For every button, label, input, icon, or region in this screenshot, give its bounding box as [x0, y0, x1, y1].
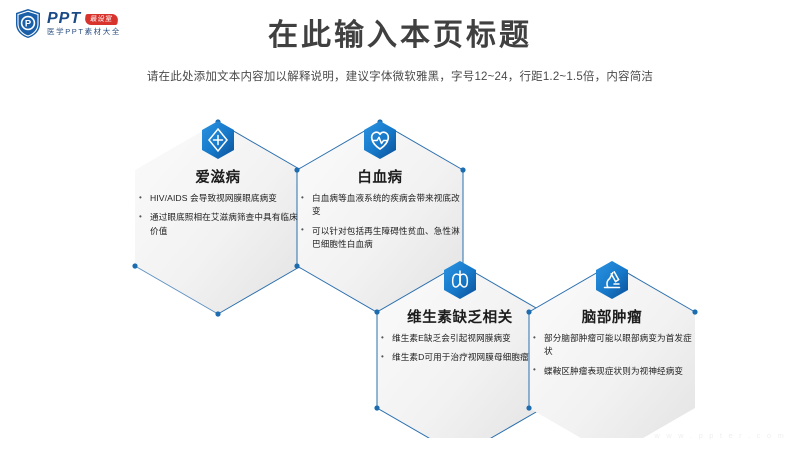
diamond-cross-icon: [200, 120, 236, 160]
list-item: 通过眼底照相在艾滋病筛查中具有临床价值: [139, 211, 299, 238]
hexagon-shapes: [0, 98, 800, 438]
card-bullets-aids: HIV/AIDS 会导致视网膜眼底病变 通过眼底照相在艾滋病筛查中具有临床价值: [139, 192, 299, 244]
page-subtitle: 请在此处添加文本内容加以解释说明，建议字体微软雅黑，字号12~24，行距1.2~…: [0, 68, 800, 84]
card-title-leukemia: 白血病: [288, 166, 472, 187]
list-item: 可以针对包括再生障碍性贫血、急性淋巴细胞性白血病: [301, 225, 461, 252]
card-title-aids: 爱滋病: [126, 166, 310, 187]
list-item: 维生素E缺乏会引起视网膜病变: [381, 332, 541, 345]
list-item: 部分脑部肿瘤可能以眼部病变为首发症状: [533, 332, 693, 359]
card-title-brain-tumor: 脑部肿瘤: [520, 306, 704, 327]
card-bullets-vitamin: 维生素E缺乏会引起视网膜病变 维生素D可用于治疗视网膜母细胞瘤: [381, 332, 541, 371]
heart-pulse-icon: [362, 120, 398, 160]
hexagon-diagram: 爱滋病 HIV/AIDS 会导致视网膜眼底病变 通过眼底照相在艾滋病筛查中具有临…: [0, 98, 800, 438]
card-bullets-leukemia: 白血病等血液系统的疾病会带来视底改变 可以针对包括再生障碍性贫血、急性淋巴细胞性…: [301, 192, 461, 257]
card-bullets-brain-tumor: 部分脑部肿瘤可能以眼部病变为首发症状 蝶鞍区肿瘤表现症状则为视神经病变: [533, 332, 693, 384]
list-item: 蝶鞍区肿瘤表现症状则为视神经病变: [533, 365, 693, 378]
slide-canvas: P PPT 最设室 医学PPT素材大全 在此输入本页标题 请在此处添加文本内容加…: [0, 0, 800, 450]
page-title: 在此输入本页标题: [0, 18, 800, 54]
microscope-icon: [594, 260, 630, 300]
list-item: HIV/AIDS 会导致视网膜眼底病变: [139, 192, 299, 205]
list-item: 维生素D可用于治疗视网膜母细胞瘤: [381, 351, 541, 364]
list-item: 白血病等血液系统的疾病会带来视底改变: [301, 192, 461, 219]
lungs-icon: [442, 260, 478, 300]
watermark: w w w . p p t e r . c o m: [654, 431, 786, 440]
